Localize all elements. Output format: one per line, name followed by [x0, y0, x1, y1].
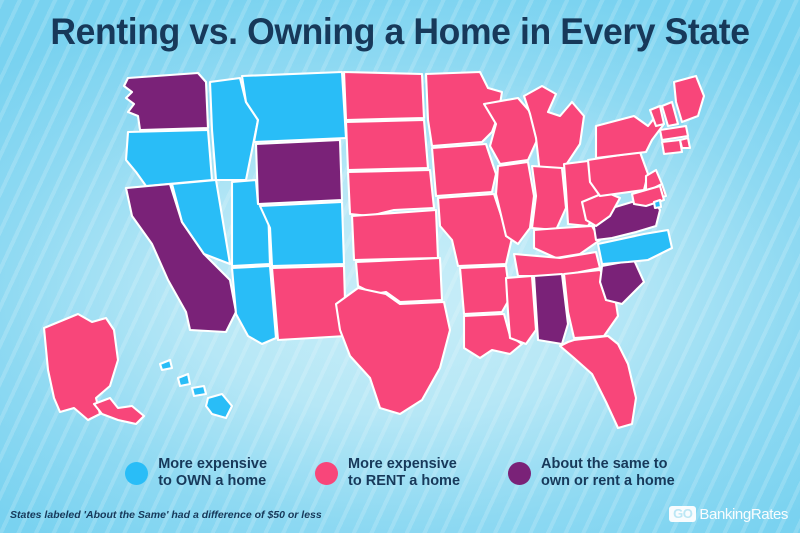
state-me[interactable]: Maine	[674, 76, 704, 122]
state-ak[interactable]: Alaska	[94, 398, 144, 424]
state-hi[interactable]: Hawaii	[192, 386, 206, 396]
state-wa[interactable]: Washington	[124, 73, 208, 130]
legend-label-same-line1: About the same to	[541, 456, 675, 473]
map-legend: More expensive to OWN a home More expens…	[0, 447, 800, 499]
state-az[interactable]: Arizona	[232, 266, 276, 344]
infographic-canvas: Renting vs. Owning a Home in Every State…	[0, 0, 800, 533]
state-ms[interactable]: Mississippi	[506, 276, 536, 344]
legend-swatch-own-icon	[125, 462, 148, 485]
legend-item-rent[interactable]: More expensive to RENT a home	[315, 456, 460, 491]
state-nm[interactable]: New Mexico	[272, 266, 346, 340]
state-wy[interactable]: Wyoming	[256, 140, 342, 204]
legend-item-own[interactable]: More expensive to OWN a home	[125, 456, 267, 491]
state-hi[interactable]: Hawaii	[206, 394, 232, 418]
map-svg: WashingtonOregonCaliforniaNevadaIdahoMon…	[40, 68, 800, 443]
legend-label-own: More expensive to OWN a home	[158, 456, 267, 491]
state-tx[interactable]: Texas	[336, 288, 450, 414]
legend-label-rent: More expensive to RENT a home	[348, 456, 460, 491]
logo-mark: GO	[669, 506, 696, 522]
state-dc[interactable]: District of Columbia	[654, 200, 661, 208]
usa-choropleth-map: WashingtonOregonCaliforniaNevadaIdahoMon…	[40, 68, 800, 443]
legend-label-own-line1: More expensive	[158, 456, 267, 473]
state-ia[interactable]: Iowa	[432, 144, 496, 196]
state-ne[interactable]: Nebraska	[348, 170, 434, 216]
state-or[interactable]: Oregon	[126, 130, 212, 186]
state-ar[interactable]: Arkansas	[460, 266, 510, 314]
legend-label-rent-line2: to RENT a home	[348, 473, 460, 490]
state-ks[interactable]: Kansas	[352, 210, 438, 260]
page-title: Renting vs. Owning a Home in Every State	[16, 11, 784, 53]
state-mt[interactable]: Montana	[242, 72, 346, 142]
state-sc[interactable]: South Carolina	[600, 260, 644, 304]
state-ct[interactable]: Connecticut	[662, 140, 682, 154]
logo-wordmark: BankingRates	[699, 507, 788, 522]
state-fl[interactable]: Florida	[560, 336, 636, 428]
state-ma[interactable]: Massachusetts	[660, 126, 688, 140]
legend-swatch-rent-icon	[315, 462, 338, 485]
legend-label-own-line2: to OWN a home	[158, 473, 267, 490]
state-in[interactable]: Indiana	[532, 166, 566, 230]
legend-swatch-same-icon	[508, 462, 531, 485]
legend-item-same[interactable]: About the same to own or rent a home	[508, 456, 675, 491]
legend-label-same-line2: own or rent a home	[541, 473, 675, 490]
footnote: States labeled 'About the Same' had a di…	[10, 509, 322, 521]
state-al[interactable]: Alabama	[534, 274, 568, 344]
legend-label-rent-line1: More expensive	[348, 456, 460, 473]
state-hi[interactable]: Hawaii	[160, 360, 172, 370]
gobankingrates-logo[interactable]: GO BankingRates	[669, 506, 788, 522]
state-mi[interactable]: Michigan	[524, 86, 584, 174]
state-co[interactable]: Colorado	[260, 202, 344, 266]
state-hi[interactable]: Hawaii	[178, 374, 190, 386]
legend-label-same: About the same to own or rent a home	[541, 456, 675, 491]
state-nd[interactable]: North Dakota	[344, 72, 424, 120]
state-sd[interactable]: South Dakota	[346, 120, 428, 170]
